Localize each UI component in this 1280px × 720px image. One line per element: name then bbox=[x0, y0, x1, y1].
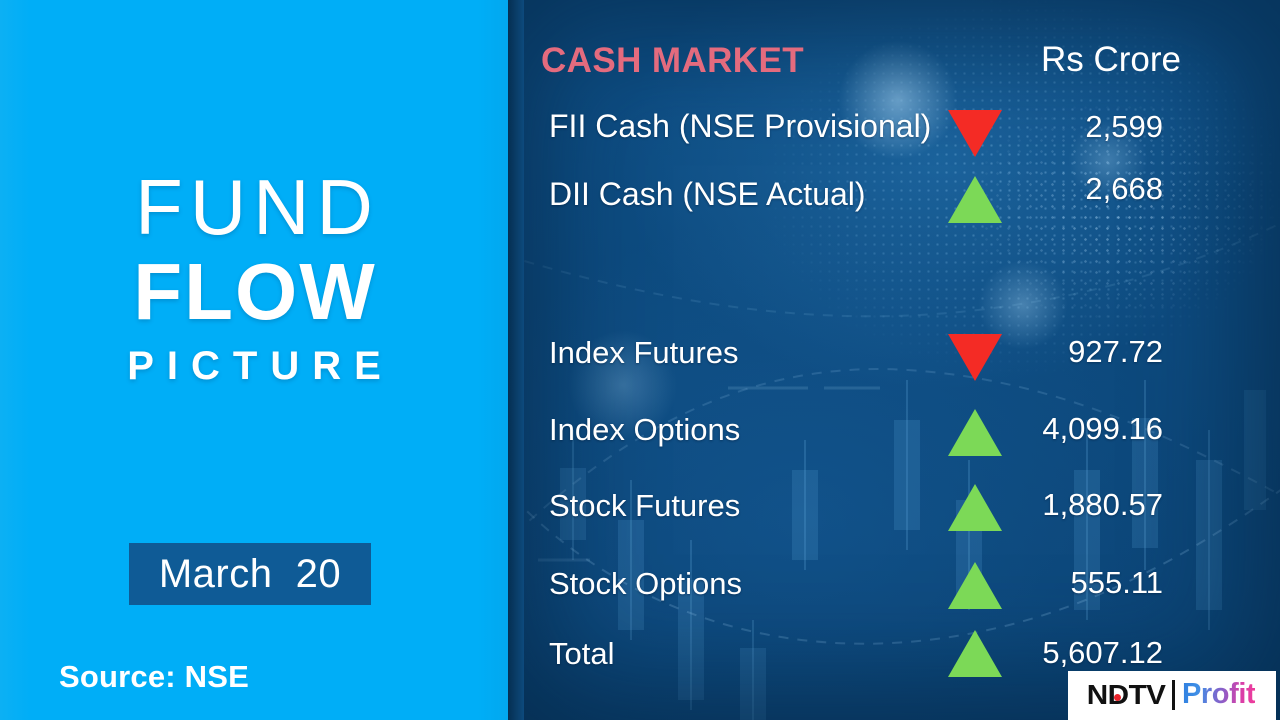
ndtv-profit-logo: NDTV Profit bbox=[1068, 671, 1276, 720]
title-panel: FUND FLOW PICTURE March 20 Source: NSE bbox=[0, 0, 508, 720]
triangle-up-icon bbox=[948, 176, 1002, 223]
logo-profit-text: Profit bbox=[1182, 678, 1255, 711]
triangle-up-icon bbox=[948, 562, 1002, 609]
row-value: 1,880.57 bbox=[1042, 487, 1163, 523]
row-value: 2,599 bbox=[1085, 109, 1163, 145]
logo-ndtv-text: NDTV bbox=[1086, 679, 1165, 711]
triangle-up-icon bbox=[948, 484, 1002, 531]
brand-line-flow: FLOW bbox=[0, 252, 508, 332]
table-header-title: CASH MARKET bbox=[541, 41, 804, 81]
triangle-up-icon bbox=[948, 630, 1002, 677]
row-value: 927.72 bbox=[1068, 334, 1163, 370]
date-badge: March 20 bbox=[129, 543, 371, 605]
logo-red-dot-icon bbox=[1114, 694, 1121, 701]
row-value: 4,099.16 bbox=[1042, 411, 1163, 447]
source-label: Source: NSE bbox=[59, 659, 249, 695]
triangle-up-icon bbox=[948, 409, 1002, 456]
row-label: Stock Futures bbox=[549, 488, 740, 524]
row-label: Index Options bbox=[549, 412, 740, 448]
row-value: 555.11 bbox=[1070, 565, 1163, 601]
row-label: FII Cash (NSE Provisional) bbox=[549, 108, 931, 145]
row-label: Stock Options bbox=[549, 566, 742, 602]
date-text: March 20 bbox=[159, 552, 341, 597]
row-value: 2,668 bbox=[1085, 171, 1163, 207]
brand-line-picture: PICTURE bbox=[0, 346, 508, 386]
fund-flow-picture-graphic: FUND FLOW PICTURE March 20 Source: NSE C… bbox=[0, 0, 1280, 720]
brand-title: FUND FLOW PICTURE bbox=[0, 168, 508, 386]
table-header-unit: Rs Crore bbox=[1041, 40, 1181, 80]
panel-divider bbox=[508, 0, 524, 720]
row-label: DII Cash (NSE Actual) bbox=[549, 176, 866, 213]
row-label: Index Futures bbox=[549, 335, 739, 371]
brand-line-fund: FUND bbox=[0, 168, 508, 246]
logo-inner: NDTV Profit bbox=[1089, 678, 1256, 711]
row-label: Total bbox=[549, 636, 614, 672]
logo-separator-bar bbox=[1172, 680, 1175, 710]
triangle-down-icon bbox=[948, 334, 1002, 381]
triangle-down-icon bbox=[948, 110, 1002, 157]
row-value: 5,607.12 bbox=[1042, 635, 1163, 671]
